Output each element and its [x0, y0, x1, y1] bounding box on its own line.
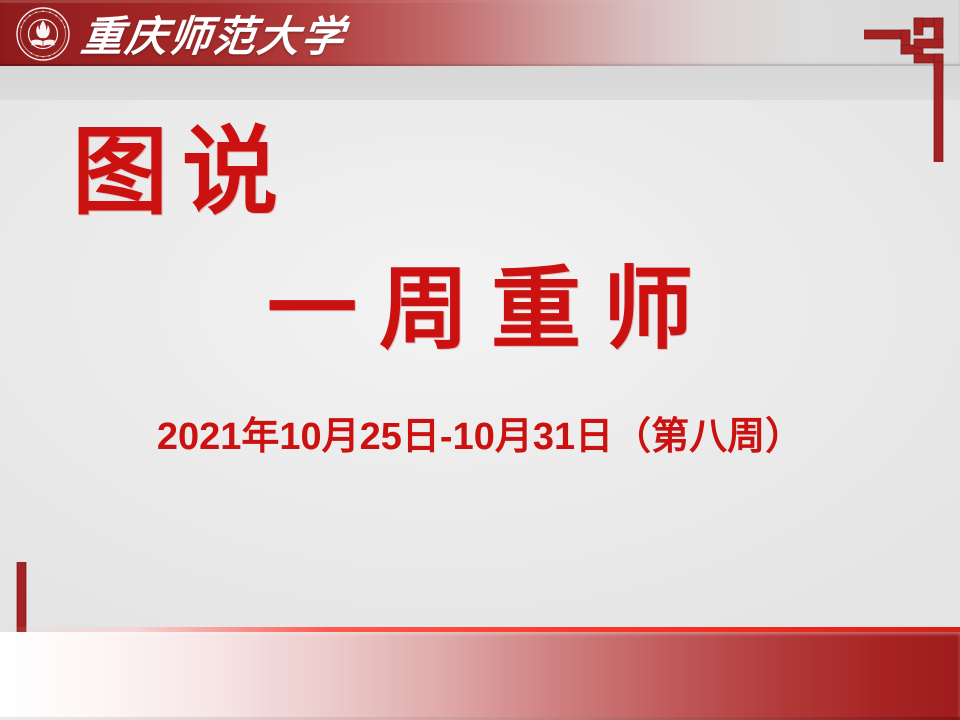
slide-root: 重庆师范大学 图说 一周重师: [0, 0, 960, 720]
header-banner: 重庆师范大学: [0, 0, 960, 66]
date-range-subtitle: 2021年10月25日-10月31日（第八周）: [0, 414, 960, 462]
bottom-banner: [0, 632, 960, 720]
university-seal-logo: [16, 7, 70, 61]
title-prefix: 图说: [72, 124, 292, 220]
university-name: 重庆师范大学: [78, 2, 350, 64]
ornament-top-right: [864, 10, 960, 162]
page-title: 一周重师: [0, 258, 960, 362]
header-under-strip: [0, 66, 960, 100]
